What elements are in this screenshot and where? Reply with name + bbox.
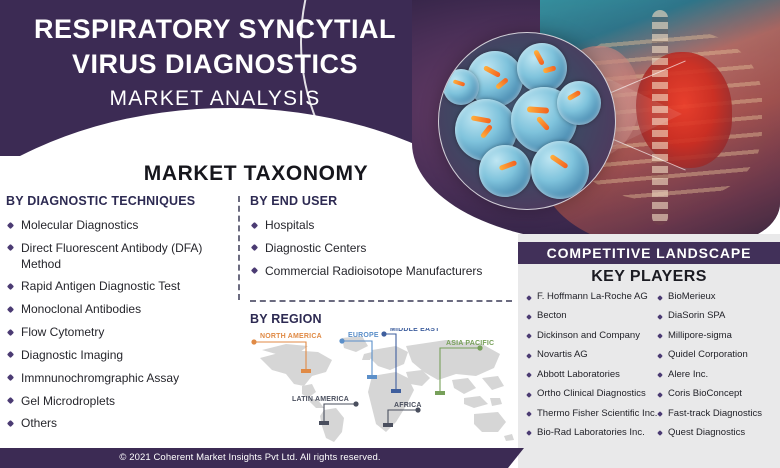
end-user-column: BY END USER Hospitals Diagnostic Centers…: [250, 194, 512, 286]
section-heading-end-user: BY END USER: [250, 194, 512, 208]
competitive-landscape-panel: COMPETITIVE LANDSCAPE KEY PLAYERS F. Hof…: [518, 234, 780, 468]
section-heading-region: BY REGION: [250, 312, 322, 326]
list-item: Fast-track Diagnostics: [657, 409, 778, 420]
horizontal-dashed-divider: [250, 300, 512, 302]
page-title-line2: VIRUS DIAGNOSTICS: [0, 47, 430, 82]
list-item: Commercial Radioisotope Manufacturers: [250, 264, 512, 280]
list-item: Coris BioConcept: [657, 389, 778, 400]
vertical-dashed-divider: [238, 196, 240, 300]
key-players-columns: F. Hoffmann La-Roche AG Becton Dickinson…: [518, 292, 780, 447]
list-item: Bio-Rad Laboratories Inc.: [526, 428, 647, 439]
list-item: Flow Cytometry: [6, 325, 232, 341]
list-item: Monoclonal Antibodies: [6, 302, 232, 318]
list-item: DiaSorin SPA: [657, 311, 778, 322]
list-item: Immnunochromgraphic Assay: [6, 371, 232, 387]
list-item: Novartis AG: [526, 350, 647, 361]
region-label-africa: AFRICA: [394, 402, 422, 409]
world-map-figure: NORTH AMERICA EUROPE MIDDLE EAST ASIA PA…: [246, 328, 518, 446]
region-label-europe: EUROPE: [348, 332, 379, 339]
page-subtitle: MARKET ANALYSIS: [0, 83, 430, 115]
list-item: Dickinson and Company: [526, 331, 647, 342]
key-players-column-right: BioMerieux DiaSorin SPA Millipore-sigma …: [649, 292, 780, 447]
list-item: Others: [6, 416, 232, 432]
page-title-line1: RESPIRATORY SYNCYTIAL: [0, 12, 430, 47]
region-label-asia-pacific: ASIA PACIFIC: [446, 340, 494, 347]
diagnostic-techniques-column: BY DIAGNOSTIC TECHNIQUES Molecular Diagn…: [6, 194, 232, 439]
market-taxonomy-title: MARKET TAXONOMY: [0, 162, 512, 186]
list-item: Millipore-sigma: [657, 331, 778, 342]
region-label-latin-america: LATIN AMERICA: [292, 396, 349, 403]
copyright-text: © 2021 Coherent Market Insights Pvt Ltd.…: [0, 448, 500, 468]
list-item: Gel Microdroplets: [6, 394, 232, 410]
infographic-root: RESPIRATORY SYNCYTIAL VIRUS DIAGNOSTICS …: [0, 0, 780, 468]
list-item: Quidel Corporation: [657, 350, 778, 361]
list-item: Thermo Fisher Scientific Inc.: [526, 409, 647, 420]
list-item: Alere Inc.: [657, 370, 778, 381]
list-item: Becton: [526, 311, 647, 322]
end-user-list: Hospitals Diagnostic Centers Commercial …: [250, 218, 512, 279]
section-heading-diagnostic-techniques: BY DIAGNOSTIC TECHNIQUES: [6, 194, 232, 208]
list-item: Diagnostic Imaging: [6, 348, 232, 364]
list-item: Direct Fluorescent Antibody (DFA) Method: [6, 241, 232, 273]
list-item: Molecular Diagnostics: [6, 218, 232, 234]
list-item: Quest Diagnostics: [657, 428, 778, 439]
competitive-landscape-banner: COMPETITIVE LANDSCAPE: [518, 242, 780, 264]
key-players-column-left: F. Hoffmann La-Roche AG Becton Dickinson…: [518, 292, 649, 447]
diagnostic-techniques-list: Molecular Diagnostics Direct Fluorescent…: [6, 218, 232, 432]
list-item: Hospitals: [250, 218, 512, 234]
footer-bar: © 2021 Coherent Market Insights Pvt Ltd.…: [0, 448, 524, 468]
region-label-middle-east: MIDDLE EAST: [390, 328, 440, 333]
list-item: F. Hoffmann La-Roche AG: [526, 292, 647, 303]
list-item: Abbott Laboratories: [526, 370, 647, 381]
list-item: Diagnostic Centers: [250, 241, 512, 257]
list-item: BioMerieux: [657, 292, 778, 303]
list-item: Rapid Antigen Diagnostic Test: [6, 279, 232, 295]
region-label-north-america: NORTH AMERICA: [260, 333, 322, 340]
title-block: RESPIRATORY SYNCYTIAL VIRUS DIAGNOSTICS …: [0, 12, 430, 115]
key-players-title: KEY PLAYERS: [518, 268, 780, 286]
list-item: Ortho Clinical Diagnostics: [526, 389, 647, 400]
